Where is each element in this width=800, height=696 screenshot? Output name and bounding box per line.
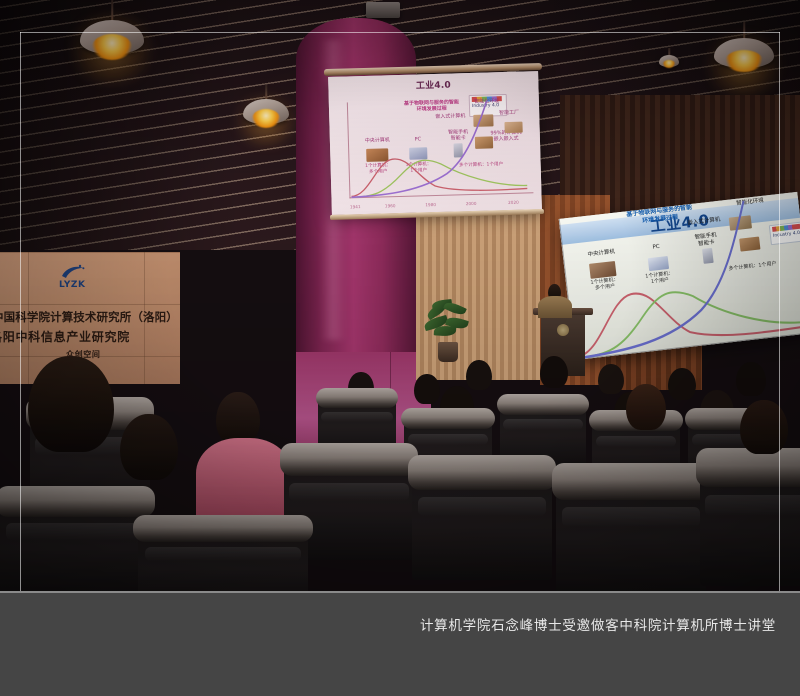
audience-seat (700, 456, 800, 586)
projection-screen-main: 工业4.0 Industry 4.0 基于物联网与服务的智能 环境发展过程 (328, 71, 542, 215)
chart-tick: 1980 (425, 202, 436, 207)
screen-fabric-secondary: 工业4.0 Industry 4.0 基于物联网与服务的智能 环境发展过程 智能… (559, 192, 800, 360)
pendant-lamp (659, 48, 679, 70)
audience-head (28, 356, 114, 452)
speaker-body (538, 296, 572, 318)
audience-head (740, 400, 788, 454)
audience-seat (0, 492, 150, 591)
chart-tick: 1960 (385, 203, 396, 208)
slide-chart: 基于物联网与服务的智能 环境发展过程 智能化环境 嵌入式计算机 智能工厂 中央计… (347, 97, 534, 198)
lyzk-logo-text: LYZK (59, 280, 86, 290)
audience-head (598, 364, 624, 394)
banner-line-1: 中国科学院计算技术研究所（洛阳） (0, 309, 178, 325)
audience-head (736, 362, 766, 396)
audience-seat (138, 520, 308, 591)
chart-tick-secondary: 2000 (731, 346, 744, 353)
audience-seat (556, 470, 706, 591)
lecture-hall-photo: 工业4.0 Industry 4.0 基于物联网与服务的智能 环境发展过程 (0, 0, 800, 591)
projection-screen-secondary: 工业4.0 Industry 4.0 基于物联网与服务的智能 环境发展过程 智能… (559, 192, 800, 360)
chart-tick: 2020 (508, 200, 519, 205)
banner-line-2: 洛阳中科信息产业研究院 (0, 328, 130, 345)
audience-head (216, 392, 260, 444)
pendant-lamp (243, 85, 289, 129)
chart-curves-secondary (559, 192, 800, 360)
screenshot-root: 工业4.0 Industry 4.0 基于物联网与服务的智能 环境发展过程 (0, 0, 800, 696)
audience-seat (412, 462, 552, 580)
podium-emblem (557, 324, 569, 336)
ceiling-projector (366, 2, 400, 18)
plant-pot (438, 342, 458, 362)
pendant-lamp (714, 22, 774, 76)
slide-title: 工业4.0 (328, 75, 538, 94)
chart-tick: 1941 (350, 204, 361, 209)
caption-bar: 计算机学院石念峰博士受邀做客中科院计算机所博士讲堂 (0, 591, 800, 696)
lyzk-logo-icon (60, 264, 86, 280)
slide-content-main: 工业4.0 Industry 4.0 基于物联网与服务的智能 环境发展过程 (328, 71, 542, 215)
pendant-lamp (80, 0, 144, 60)
audience-head (466, 360, 492, 390)
audience-head (414, 374, 440, 404)
audience-body (196, 438, 292, 518)
audience-head (120, 414, 178, 480)
chart-curves (347, 97, 534, 198)
screen-fabric: 工业4.0 Industry 4.0 基于物联网与服务的智能 环境发展过程 (328, 71, 542, 215)
audience-head (668, 368, 696, 400)
audience-head (540, 356, 568, 388)
chart-tick: 2000 (466, 201, 477, 206)
potted-plant (424, 300, 470, 362)
chart-tick-secondary: 2020 (788, 339, 800, 346)
audience-head (626, 384, 666, 430)
caption-bar-top-edge (0, 591, 800, 593)
photo-caption: 计算机学院石念峰博士受邀做客中科院计算机所博士讲堂 (0, 614, 776, 634)
